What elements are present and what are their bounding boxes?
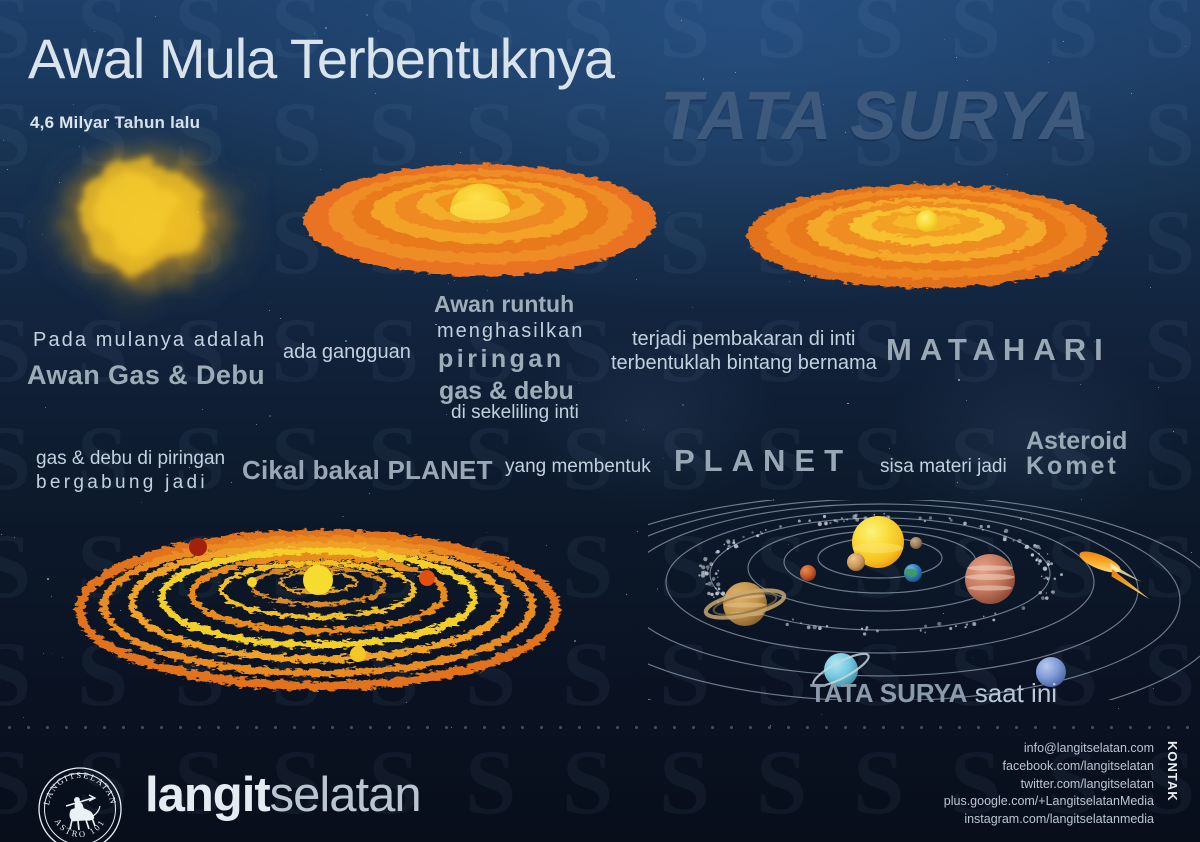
asteroid <box>994 613 996 615</box>
asteroid <box>1043 578 1045 580</box>
asteroid <box>876 630 879 633</box>
asteroid <box>924 520 926 522</box>
asteroid <box>823 515 826 518</box>
watermark-letter: S <box>659 0 710 72</box>
star <box>43 653 44 654</box>
asteroid <box>841 517 843 519</box>
asteroid <box>824 522 828 526</box>
asteroid <box>924 631 926 633</box>
asteroid <box>786 623 789 626</box>
star <box>944 39 945 40</box>
asteroid <box>829 522 831 524</box>
asteroid <box>855 518 859 522</box>
stage-planetesimals-line1: gas & debu di piringan <box>36 448 225 470</box>
star <box>692 307 693 308</box>
star <box>47 578 49 580</box>
asteroid <box>966 623 968 625</box>
star <box>668 212 669 213</box>
asteroid <box>709 562 713 566</box>
star <box>1131 93 1132 94</box>
asteroid <box>987 525 990 528</box>
infographic-poster: SSSSSSSSSSSSSSSSSSSSSSSSSSSSSSSSSSSSSSSS… <box>0 0 1200 842</box>
star <box>958 379 960 381</box>
asteroid <box>813 625 817 629</box>
asteroid <box>808 519 811 522</box>
asteroid <box>723 544 725 546</box>
asteroid <box>703 557 707 561</box>
stage-planetesimals-line2: bergabung jadi <box>36 472 208 494</box>
stage-star-label-matahari: MATAHARI <box>886 332 1111 368</box>
asteroid <box>708 582 712 586</box>
star <box>618 72 619 73</box>
asteroid <box>1003 537 1007 541</box>
star <box>202 409 203 410</box>
stage-leftovers-label-komet: Komet <box>1026 452 1119 481</box>
asteroid <box>718 588 721 591</box>
watermark-letter: S <box>1144 88 1195 180</box>
asteroid <box>1038 553 1040 555</box>
asteroid <box>980 525 983 528</box>
asteroid <box>717 576 719 578</box>
watermark-letter: S <box>1144 304 1195 396</box>
star <box>626 594 627 595</box>
asteroid <box>705 571 709 575</box>
stage-disk-line5: di sekeliling inti <box>451 402 579 424</box>
asteroid <box>883 513 885 515</box>
asteroid <box>1038 563 1040 565</box>
asteroid <box>818 626 822 630</box>
star <box>579 383 580 384</box>
asteroid <box>1033 544 1037 548</box>
asteroid <box>1043 567 1047 571</box>
star <box>155 16 156 17</box>
asteroid <box>715 587 717 589</box>
star <box>231 482 232 483</box>
watermark-letter: S <box>0 520 31 612</box>
star <box>1063 41 1064 42</box>
asteroid <box>929 516 932 519</box>
asteroid <box>715 551 718 554</box>
star <box>889 448 890 449</box>
asteroid <box>1060 573 1063 576</box>
asteroid <box>733 539 735 541</box>
star <box>475 108 476 109</box>
star <box>1158 387 1159 388</box>
asteroid <box>779 525 782 528</box>
asteroid <box>863 632 866 635</box>
page-title-big: TATA SURYA <box>660 76 1090 155</box>
asteroid <box>701 571 705 575</box>
stage-today-light: saat ini <box>975 678 1057 708</box>
asteroid <box>1038 559 1042 563</box>
star <box>847 403 849 405</box>
asteroid <box>728 545 731 548</box>
star <box>141 502 142 503</box>
star <box>1185 46 1186 47</box>
watermark-letter: S <box>659 196 710 288</box>
contact-item[interactable]: facebook.com/langitselatan <box>944 758 1154 776</box>
star <box>1189 345 1190 346</box>
watermark-letter: S <box>0 412 31 504</box>
asteroid <box>1041 596 1045 600</box>
asteroid <box>1054 578 1056 580</box>
asteroid <box>861 628 863 630</box>
asteroid <box>1046 592 1047 593</box>
stage-today-bold: TATA SURYA <box>810 678 967 708</box>
watermark-letter: S <box>0 0 31 72</box>
star <box>3 140 4 141</box>
star <box>45 407 46 408</box>
star <box>966 400 967 401</box>
asteroid <box>707 592 710 595</box>
asteroid <box>818 522 822 526</box>
modern-solar-system-illustration <box>648 500 1200 700</box>
star <box>957 482 958 483</box>
footer: LANGITSELATAN ASTRO 101 langitselat <box>0 727 1200 842</box>
stage-star-line2: terbentuklah bintang bernama <box>611 352 877 375</box>
asteroid <box>732 541 735 544</box>
asteroid <box>710 593 713 596</box>
watermark-letter: S <box>950 0 1001 72</box>
stage-disk-line1: Awan runtuh <box>434 291 574 318</box>
asteroid <box>836 521 838 523</box>
ignited-star-disk-illustration <box>742 160 1112 302</box>
asteroid <box>807 626 811 630</box>
star <box>637 531 638 532</box>
contact-item[interactable]: info@langitselatan.com <box>944 740 1154 758</box>
asteroid <box>963 522 967 526</box>
star <box>51 653 52 654</box>
asteroid <box>1039 547 1041 549</box>
asteroid <box>1046 560 1050 564</box>
star <box>256 424 257 425</box>
asteroid <box>1039 591 1042 594</box>
star <box>971 492 972 493</box>
asteroid <box>716 582 720 586</box>
star <box>1118 708 1119 709</box>
asteroid <box>1022 606 1026 610</box>
page-title: Awal Mula Terbentuknya <box>28 26 614 91</box>
asteroid <box>715 572 718 575</box>
asteroid <box>751 531 753 533</box>
stage-planets-line1: yang membentuk <box>505 456 651 478</box>
watermark-letter: S <box>1144 412 1195 504</box>
asteroid <box>798 520 801 523</box>
contact-item[interactable]: instagram.com/langitselatanmedia <box>944 811 1154 829</box>
asteroid <box>800 622 801 623</box>
star <box>1150 287 1151 288</box>
asteroid <box>1045 596 1049 600</box>
asteroid <box>964 626 966 628</box>
star <box>369 493 370 494</box>
asteroid <box>950 519 953 522</box>
star <box>23 717 24 718</box>
stage-leftovers-line1: sisa materi jadi <box>880 456 1007 478</box>
asteroid <box>726 539 730 543</box>
stage-planets-label: PLANET <box>674 443 852 479</box>
star <box>681 20 682 21</box>
star <box>51 596 52 597</box>
contact-list: info@langitselatan.comfacebook.com/langi… <box>944 740 1154 829</box>
wordmark-bold: langit <box>145 768 270 822</box>
asteroid <box>1024 547 1026 549</box>
asteroid <box>949 517 951 519</box>
svg-text:LANGITSELATAN: LANGITSELATAN <box>41 770 119 806</box>
star <box>446 414 447 415</box>
star <box>643 429 644 430</box>
asteroid <box>1050 562 1053 565</box>
asteroid <box>924 625 927 628</box>
asteroid <box>918 517 921 520</box>
asteroid <box>949 627 952 630</box>
asteroid <box>792 618 794 620</box>
asteroid <box>721 592 725 596</box>
asteroid <box>1051 590 1055 594</box>
kontak-label: KONTAK <box>1165 741 1180 802</box>
asteroid <box>707 569 709 571</box>
asteroid <box>955 625 957 627</box>
asteroid <box>756 534 759 537</box>
asteroid <box>706 565 710 569</box>
asteroid <box>992 618 995 621</box>
asteroid <box>1048 577 1050 579</box>
watermark-letter: S <box>853 0 904 72</box>
star <box>663 458 664 459</box>
watermark-letter: S <box>0 628 31 720</box>
asteroid <box>873 514 875 516</box>
watermark-letter: S <box>756 0 807 72</box>
gas-dust-cloud-illustration <box>8 105 298 330</box>
star <box>375 93 376 94</box>
star <box>956 57 957 58</box>
star <box>62 657 63 658</box>
langitselatan-wordmark: langitselatan <box>145 771 421 820</box>
wordmark-light: selatan <box>270 768 421 822</box>
langitselatan-logo-icon: LANGITSELATAN ASTRO 101 <box>37 766 123 842</box>
star <box>1 534 2 535</box>
star <box>366 14 368 16</box>
stage-disk-line3: piringan <box>438 345 565 374</box>
asteroid <box>717 570 719 572</box>
asteroid <box>711 585 712 586</box>
asteroid <box>982 529 984 531</box>
asteroid <box>1004 529 1008 533</box>
asteroid <box>1047 578 1049 580</box>
asteroid <box>701 565 705 569</box>
asteroid <box>698 574 700 576</box>
star <box>626 420 627 421</box>
asteroid <box>1041 576 1043 578</box>
asteroid <box>765 529 767 531</box>
asteroid <box>843 520 845 522</box>
stage-today-label: TATA SURYA saat ini <box>810 678 1057 709</box>
asteroid <box>1017 539 1021 543</box>
star <box>269 415 271 417</box>
asteroid <box>937 622 941 626</box>
stage-planetesimals-label: Cikal bakal PLANET <box>242 455 493 486</box>
asteroid <box>1047 553 1049 555</box>
collapsing-cloud-disk-illustration <box>300 138 660 290</box>
asteroid <box>865 628 868 631</box>
protoplanetary-rings-illustration <box>70 512 570 692</box>
asteroid <box>1032 554 1034 556</box>
asteroid <box>712 577 716 581</box>
stage-disk-line2: menghasilkan <box>437 320 584 343</box>
star <box>735 72 736 73</box>
star <box>14 537 15 538</box>
asteroid <box>846 519 848 521</box>
contact-item[interactable]: plus.google.com/+LangitselatanMedia <box>944 793 1154 811</box>
star <box>1080 384 1081 385</box>
asteroid <box>727 548 729 550</box>
asteroid <box>983 616 985 618</box>
asteroid <box>715 592 719 596</box>
star <box>682 404 684 406</box>
watermark-letter: S <box>1144 196 1195 288</box>
asteroid <box>972 622 976 626</box>
star <box>406 702 407 703</box>
watermark-letter: S <box>1047 0 1098 72</box>
asteroid <box>742 536 744 538</box>
asteroid <box>855 514 858 517</box>
asteroid <box>1013 540 1015 542</box>
contact-item[interactable]: twitter.com/langitselatan <box>944 776 1154 794</box>
asteroid <box>734 544 738 548</box>
asteroid <box>761 532 763 534</box>
star <box>574 640 576 642</box>
stage-star-line1: terjadi pembakaran di inti <box>632 328 855 351</box>
star <box>821 714 822 715</box>
stage-cloud-line1: Pada mulanya adalah <box>33 329 266 352</box>
stage-disturbance-line1: ada gangguan <box>283 341 411 364</box>
asteroid <box>705 583 707 585</box>
watermark-letter: S <box>1144 0 1195 72</box>
star <box>1048 62 1049 63</box>
stage-cloud-line2: Awan Gas & Debu <box>27 360 265 391</box>
asteroid <box>834 519 837 522</box>
asteroid <box>713 596 715 598</box>
asteroid <box>826 625 828 627</box>
star <box>1173 431 1174 432</box>
asteroid <box>920 630 921 631</box>
asteroid <box>760 531 761 532</box>
